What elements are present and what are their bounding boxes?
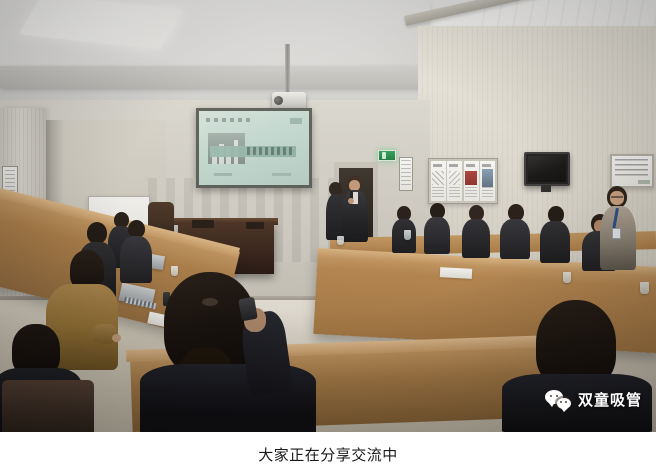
podium-equipment	[246, 222, 264, 229]
poster-pane	[431, 161, 446, 201]
framed-notice-text	[615, 159, 648, 179]
attendee-right-row-1	[392, 206, 416, 252]
foreground-chair-left	[2, 380, 94, 432]
poster-photo	[482, 169, 493, 187]
person-body	[462, 219, 490, 258]
person-hand	[112, 334, 121, 342]
poster-title	[482, 164, 491, 167]
slide-footer-right	[272, 173, 292, 176]
slide-logo	[290, 118, 302, 124]
wall-mounted-tv	[524, 152, 570, 186]
person-head	[87, 222, 107, 244]
drinking-glass	[640, 282, 649, 294]
projector-lens-icon	[274, 96, 283, 105]
tv-screen	[528, 156, 566, 182]
poster-title	[466, 164, 475, 167]
slide-banner-text	[247, 147, 293, 154]
attendee-right-row-3	[462, 205, 490, 257]
presenter-hand	[348, 198, 354, 204]
poster-text	[482, 187, 493, 197]
mobile-phone-icon	[238, 297, 258, 321]
drinking-glass	[337, 236, 344, 245]
presenter-with-microphone	[342, 176, 368, 242]
wechat-dot	[565, 401, 567, 403]
poster-title	[449, 164, 458, 167]
slide-footer-left	[214, 173, 232, 176]
poster-diagram	[449, 171, 460, 185]
tv-mount-bracket	[541, 185, 551, 192]
wechat-dot	[560, 401, 562, 403]
watermark-text: 双童吸管	[578, 389, 642, 410]
caption-bar: 大家正在分享交流中	[0, 432, 656, 476]
attendee-right-row-2	[424, 203, 450, 253]
poster-text	[465, 187, 476, 197]
projector-pole	[285, 44, 290, 96]
framed-notice-stamp	[638, 180, 650, 184]
chair-back	[2, 380, 94, 432]
wechat-icon	[545, 390, 571, 409]
person-body	[424, 217, 450, 254]
standing-woman-with-lanyard	[598, 186, 638, 272]
wechat-dot	[556, 395, 558, 397]
poster-board	[428, 158, 498, 204]
exit-running-man-icon	[382, 152, 386, 159]
door-notice-text	[401, 160, 411, 188]
poster-title	[433, 164, 442, 167]
drinking-glass	[404, 230, 411, 240]
podium-equipment	[192, 220, 214, 228]
person-body	[540, 221, 570, 263]
badge	[612, 228, 621, 239]
poster-text	[432, 187, 443, 197]
poster-pane	[447, 161, 462, 201]
meeting-room-photo: 双童吸管	[0, 0, 656, 432]
wechat-bubble-small	[557, 398, 571, 409]
attendee-right-row-4	[500, 204, 530, 258]
drinking-glass	[563, 272, 571, 283]
poster-diagram	[432, 171, 443, 185]
caption-text: 大家正在分享交流中	[258, 444, 398, 465]
person-body	[500, 219, 530, 259]
ceiling-beam	[0, 66, 432, 88]
eyeglasses-icon	[611, 196, 623, 198]
poster-pane	[480, 161, 495, 201]
wechat-dot	[550, 395, 552, 397]
attendee-right-row-5	[540, 206, 570, 262]
foreground-woman-with-phone	[140, 272, 316, 432]
poster-text	[449, 187, 460, 197]
hair-tie	[202, 298, 218, 306]
page-root: 双童吸管 大家正在分享交流中	[0, 0, 656, 476]
projection-screen	[196, 108, 312, 188]
paper-sheet	[440, 267, 472, 279]
person-face	[610, 191, 624, 205]
projection-screen-surface	[199, 111, 309, 185]
poster-pane	[464, 161, 479, 201]
slide-header-text	[206, 118, 250, 122]
foreground-attendee-right	[502, 300, 652, 432]
exit-sign	[378, 150, 396, 161]
poster-diagram	[465, 171, 476, 185]
watermark: 双童吸管	[545, 389, 642, 410]
